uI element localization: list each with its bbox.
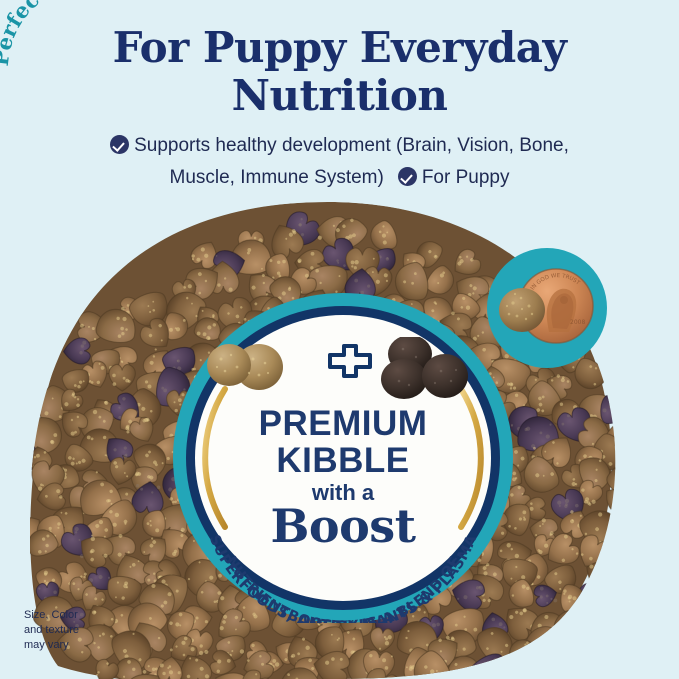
bullet-1-label-cont: Muscle, Immune System) (170, 167, 384, 188)
product-feature-image: For Puppy Everyday Nutrition Supports he… (0, 0, 679, 679)
headline-line-2: Nutrition (0, 72, 679, 120)
headline-line-1: For Puppy Everyday (113, 23, 567, 72)
bullet-row-2: Muscle, Immune System)For Puppy (30, 162, 649, 194)
page-title: For Puppy Everyday Nutrition (0, 24, 679, 120)
bullet-2-label: For Puppy (422, 167, 510, 188)
bullet-row-1: Supports healthy development (Brain, Vis… (30, 130, 649, 162)
perfect-size-badge: IN GOD WE TRUST 2008 (487, 248, 607, 368)
check-circle-icon (110, 135, 129, 154)
disclaimer-line-2: and texture (24, 623, 144, 638)
disclaimer-line-1: Size, Color (24, 608, 144, 623)
badge-curved-tagline: NUTRIENTBOOST™ IS A BLEND OF SUPERFOODS,… (173, 293, 513, 623)
disclaimer-text: Size, Color and texture may vary (24, 608, 144, 653)
tan-kibble-icon (499, 288, 545, 332)
bullet-1-label: Supports healthy development (Brain, Vis… (134, 135, 569, 156)
svg-text:2008: 2008 (570, 319, 585, 326)
feature-bullet-list: Supports healthy development (Brain, Vis… (30, 130, 649, 194)
premium-kibble-badge: PREMIUM KIBBLE with a Boost NUTRIENTBOOS… (173, 293, 513, 623)
svg-text:SUPERFOODS, ANTIOXIDANTS & PLA: SUPERFOODS, ANTIOXIDANTS & PLASMA (206, 532, 481, 623)
check-circle-icon-2 (398, 167, 417, 186)
disclaimer-line-3: may vary (24, 638, 144, 653)
